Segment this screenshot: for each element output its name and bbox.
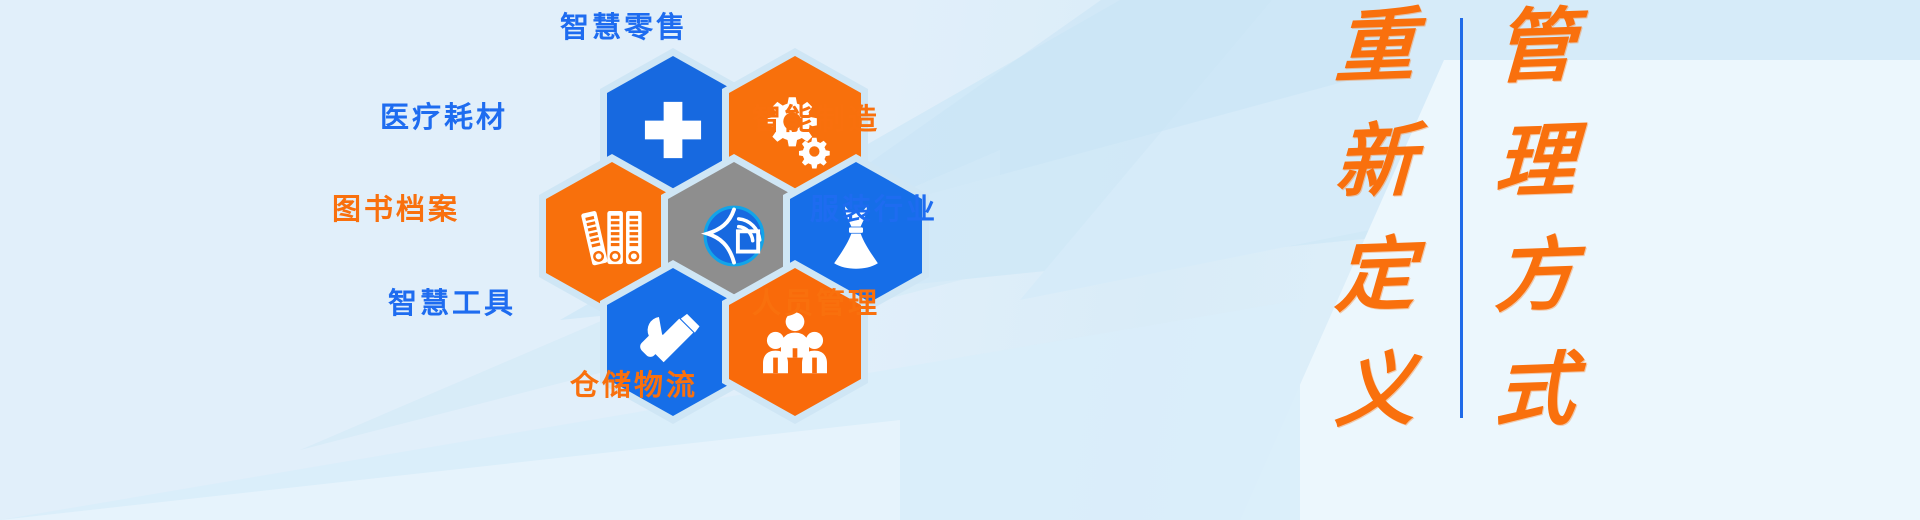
- calligraphy-char: 管: [1494, 9, 1577, 88]
- calligraphy-block: 重 新 定 义 管 理 方 式: [1320, 0, 1640, 520]
- calligraphy-char: 新: [1334, 123, 1417, 202]
- label-manufacture: 智能制造: [752, 106, 880, 135]
- label-books: 图书档案: [332, 196, 460, 225]
- label-tools: 智慧工具: [388, 290, 516, 319]
- label-warehouse: 仓储物流: [570, 372, 698, 401]
- calligraphy-char: 定: [1334, 238, 1417, 317]
- calligraphy-char: 式: [1494, 353, 1577, 432]
- calligraphy-char: 义: [1334, 353, 1417, 432]
- calligraphy-char: 重: [1334, 9, 1417, 88]
- calligraphy-char: 方: [1494, 238, 1577, 317]
- label-apparel: 服装行业: [810, 196, 938, 225]
- hexagon-people[interactable]: [722, 260, 868, 424]
- label-people: 人员管理: [752, 290, 880, 319]
- hexagon-cluster: [478, 48, 998, 438]
- promo-banner: 智慧零售 医疗耗材 智能制造 图书档案 服装行业 智慧工具 人员管理 仓储物流 …: [0, 0, 1920, 520]
- calligraphy-divider: [1460, 18, 1463, 418]
- calligraphy-char: 理: [1494, 123, 1577, 202]
- calligraphy-column-left: 重 新 定 义: [1320, 10, 1430, 430]
- calligraphy-column-right: 管 理 方 式: [1480, 10, 1590, 430]
- label-medical: 医疗耗材: [380, 104, 508, 133]
- label-retail: 智慧零售: [560, 14, 688, 43]
